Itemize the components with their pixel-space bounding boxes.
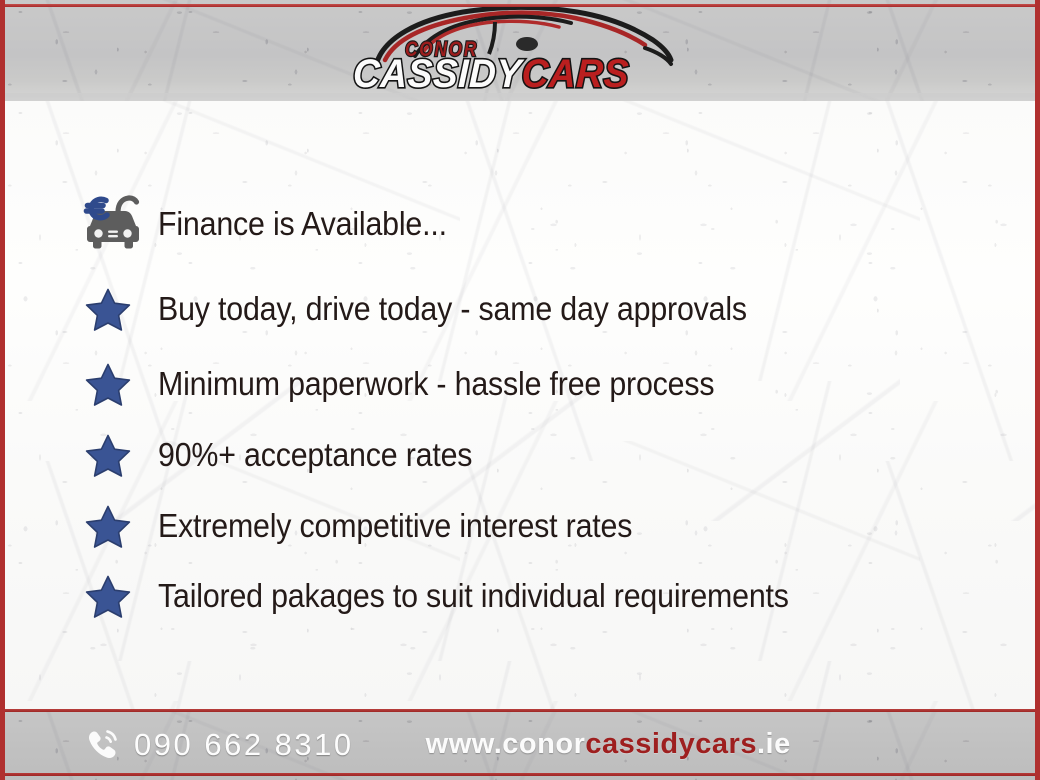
list-item: 90%+ acceptance rates (84, 428, 500, 482)
list-item-label: Finance is Available... (158, 205, 447, 243)
logo-word-cars: CARS (521, 52, 630, 96)
frame-top-rule (0, 4, 1040, 7)
brand-logo[interactable]: CONOR CASSIDYCARS (345, 0, 695, 100)
list-item-label: Extremely competitive interest rates (158, 507, 632, 545)
list-item: Finance is Available... (84, 197, 472, 251)
frame-right-rule (1035, 0, 1040, 780)
feature-list: Finance is Available... Buy today, drive… (0, 101, 1040, 709)
list-item-label: Tailored pakages to suit individual requ… (158, 577, 789, 615)
star-bullet-icon (84, 432, 158, 478)
phone-number: 090 662 8310 (134, 727, 354, 763)
website-prefix: www.conor (426, 728, 586, 760)
logo-wordmark: CASSIDYCARS (352, 52, 629, 97)
frame-bottom-rule (0, 773, 1040, 776)
phone-ringing-icon (84, 727, 120, 763)
star-bullet-icon (84, 286, 158, 332)
star-bullet-icon (84, 573, 158, 619)
header-fade (0, 93, 1040, 101)
frame-left-rule (0, 0, 5, 780)
euro-car-finance-icon (84, 194, 158, 254)
list-item: Extremely competitive interest rates (84, 499, 673, 553)
website-url[interactable]: www.conorcassidycars.ie (426, 728, 791, 761)
website-brand: cassidycars (585, 728, 757, 760)
logo-word-cassidy: CASSIDY (352, 52, 522, 96)
star-bullet-icon (84, 361, 158, 407)
header-band: CONOR CASSIDYCARS (0, 0, 1040, 101)
flyer-canvas: CONOR CASSIDYCARS (0, 0, 1040, 780)
list-item: Tailored pakages to suit individual requ… (84, 569, 844, 623)
website-tld: .ie (757, 728, 791, 760)
list-item: Minimum paperwork - hassle free process (84, 357, 763, 411)
list-item: Buy today, drive today - same day approv… (84, 282, 798, 336)
phone-contact[interactable]: 090 662 8310 (84, 727, 354, 763)
list-item-label: Minimum paperwork - hassle free process (158, 365, 714, 403)
footer-content: 090 662 8310 www.conorcassidycars.ie (0, 709, 1040, 780)
list-item-label: 90%+ acceptance rates (158, 436, 472, 474)
list-item-label: Buy today, drive today - same day approv… (158, 290, 747, 328)
star-bullet-icon (84, 503, 158, 549)
